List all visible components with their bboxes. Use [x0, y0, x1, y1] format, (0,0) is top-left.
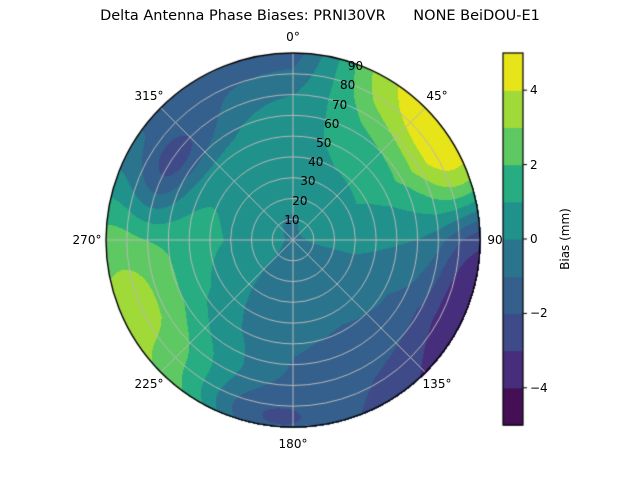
- angle-tick-0: 0°: [286, 30, 300, 44]
- radial-tick-60: 60: [324, 117, 339, 131]
- radial-tick-30: 30: [300, 174, 315, 188]
- radial-tick-90: 90: [348, 59, 363, 73]
- colorbar-tick-3: −2: [530, 306, 548, 320]
- angle-tick-135: 135°: [423, 377, 452, 391]
- colorbar-tick-0: 4: [530, 83, 538, 97]
- colorbar-tick-1: 2: [530, 158, 538, 172]
- page-title: Delta Antenna Phase Biases: PRNI30VR NON…: [0, 8, 640, 24]
- figure-canvas-container: Delta Antenna Phase Biases: PRNI30VR NON…: [0, 0, 640, 480]
- angle-tick-315: 315°: [135, 89, 164, 103]
- radial-tick-80: 80: [340, 78, 355, 92]
- radial-tick-40: 40: [308, 155, 323, 169]
- colorbar-tick-4: −4: [530, 381, 548, 395]
- angle-tick-45: 45°: [426, 89, 447, 103]
- radial-tick-10: 10: [284, 213, 299, 227]
- radial-tick-20: 20: [292, 194, 307, 208]
- angle-tick-225: 225°: [135, 377, 164, 391]
- angle-tick-90: 90: [487, 233, 502, 247]
- colorbar-axis-label: Bias (mm): [558, 208, 572, 270]
- radial-tick-50: 50: [316, 136, 331, 150]
- angle-tick-180: 180°: [279, 437, 308, 451]
- angle-tick-270: 270°: [73, 233, 102, 247]
- radial-tick-70: 70: [332, 98, 347, 112]
- colorbar-tick-2: 0: [530, 232, 538, 246]
